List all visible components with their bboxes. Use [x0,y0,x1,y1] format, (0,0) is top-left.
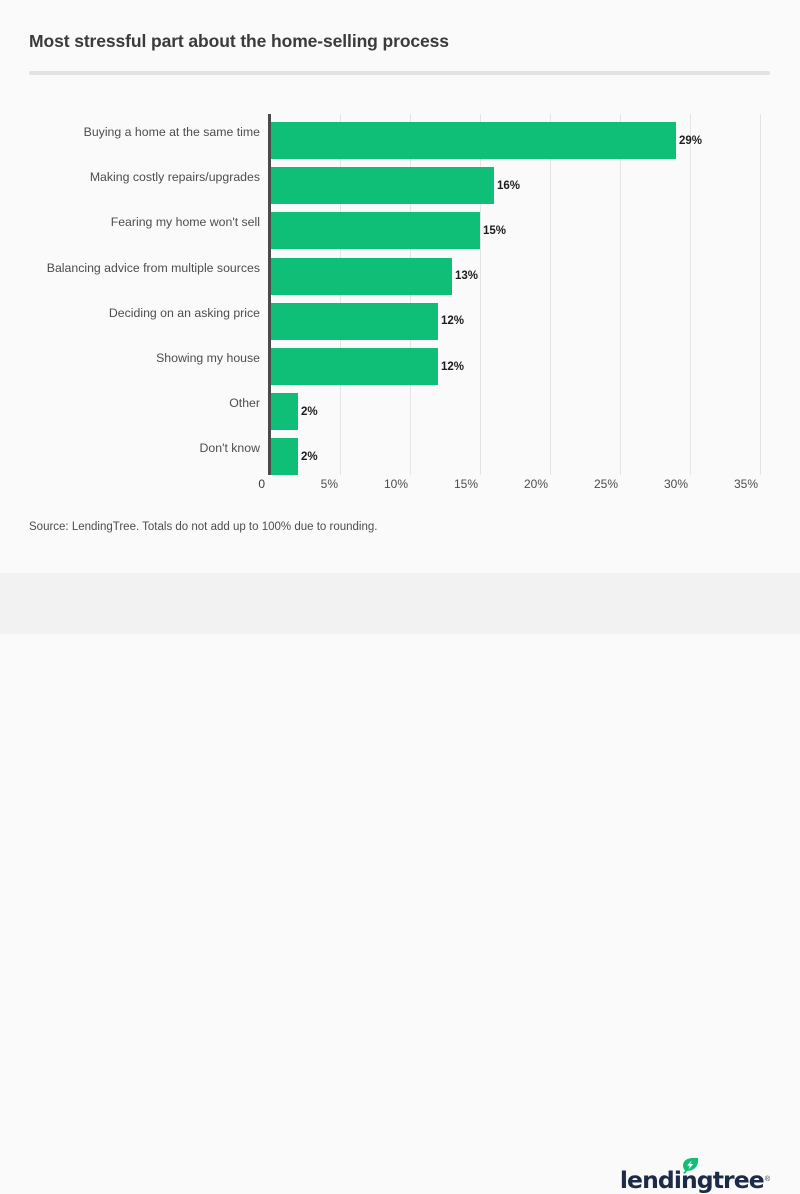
bar-value-label: 13% [455,270,478,282]
bar [270,438,298,475]
y-axis-line [268,114,271,475]
category-label: Balancing advice from multiple sources [10,250,260,287]
x-tick-label: 15% [454,477,480,491]
x-tick-label: 25% [594,477,620,491]
bar-value-label: 12% [441,361,464,373]
bar-value-label: 16% [497,180,520,192]
bar-value-label: 15% [483,225,506,237]
x-tick-label: 20% [524,477,550,491]
bar-row: 15% [270,212,506,249]
trademark-symbol: ® [765,1176,770,1183]
x-tick-label: 5% [321,477,340,491]
bar-row: 13% [270,258,478,295]
bar [270,167,494,204]
bar-row: 2% [270,393,318,430]
bar-value-label: 12% [441,315,464,327]
footer-band: lendingtree ® [0,573,800,634]
chart-card: Most stressful part about the home-selli… [0,0,800,634]
bar-value-label: 2% [301,451,318,463]
bar-row: 2% [270,438,318,475]
x-tick-label: 0 [258,477,270,491]
x-tick-label: 30% [664,477,690,491]
bar-value-label: 29% [679,135,702,147]
bar [270,212,480,249]
leaf-icon [682,1157,699,1174]
category-label: Other [10,385,260,422]
plot-inner: 29%16%15%13%12%12%2%2% [270,114,760,475]
bar [270,122,676,159]
category-label: Making costly repairs/upgrades [10,159,260,196]
title-divider [29,71,770,75]
source-note: Source: LendingTree. Totals do not add u… [29,521,377,533]
lendingtree-logo: lendingtree ® [620,1166,770,1192]
bar-row: 12% [270,303,464,340]
bar [270,393,298,430]
category-label: Showing my house [10,340,260,377]
bar-value-label: 2% [301,406,318,418]
bar-row: 12% [270,348,464,385]
category-label: Don't know [10,430,260,467]
bar-row: 29% [270,122,702,159]
bar-row: 16% [270,167,520,204]
x-tick-label: 10% [384,477,410,491]
category-label: Buying a home at the same time [10,114,260,151]
y-axis-category-labels: Buying a home at the same timeMaking cos… [0,114,260,475]
page-title: Most stressful part about the home-selli… [29,31,449,52]
gridline [760,114,761,475]
x-axis-tick-labels: 05%10%15%20%25%30%35% [0,477,800,499]
bar [270,348,438,385]
bar [270,258,452,295]
category-label: Deciding on an asking price [10,295,260,332]
bar [270,303,438,340]
x-tick-label: 35% [734,477,760,491]
category-label: Fearing my home won't sell [10,204,260,241]
bar-series: 29%16%15%13%12%12%2%2% [270,114,760,475]
